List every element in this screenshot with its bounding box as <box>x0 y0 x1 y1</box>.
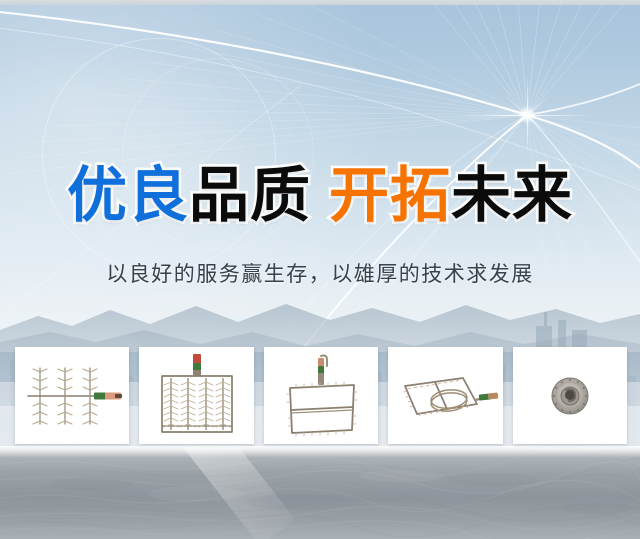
ground-texture <box>0 446 640 539</box>
vertical-hook-rack-icon <box>148 352 246 440</box>
headline-part-1: 优良 <box>67 166 189 226</box>
page-title: 优良品质开拓未来 <box>0 166 640 226</box>
product-card[interactable] <box>139 347 253 444</box>
comb-rack-icon <box>18 354 126 438</box>
headline-part-4: 未来 <box>451 166 573 226</box>
headline-part-3: 开拓 <box>329 166 451 226</box>
product-card-list <box>15 347 627 444</box>
headline-part-2: 品质 <box>189 166 311 226</box>
product-card[interactable] <box>15 347 129 444</box>
radial-starburst-icon <box>524 352 616 440</box>
promo-banner: 优良品质开拓未来 以良好的服务赢生存，以雄厚的技术求发展 <box>0 0 640 539</box>
product-card[interactable] <box>513 347 627 444</box>
ring-tray-icon <box>391 356 499 436</box>
rectangular-frame-icon <box>272 352 370 440</box>
product-card[interactable] <box>388 347 502 444</box>
product-card[interactable] <box>264 347 378 444</box>
top-edge-strip <box>0 0 640 5</box>
ground-pavement <box>0 446 640 539</box>
page-subtitle: 以良好的服务赢生存，以雄厚的技术求发展 <box>0 258 640 288</box>
